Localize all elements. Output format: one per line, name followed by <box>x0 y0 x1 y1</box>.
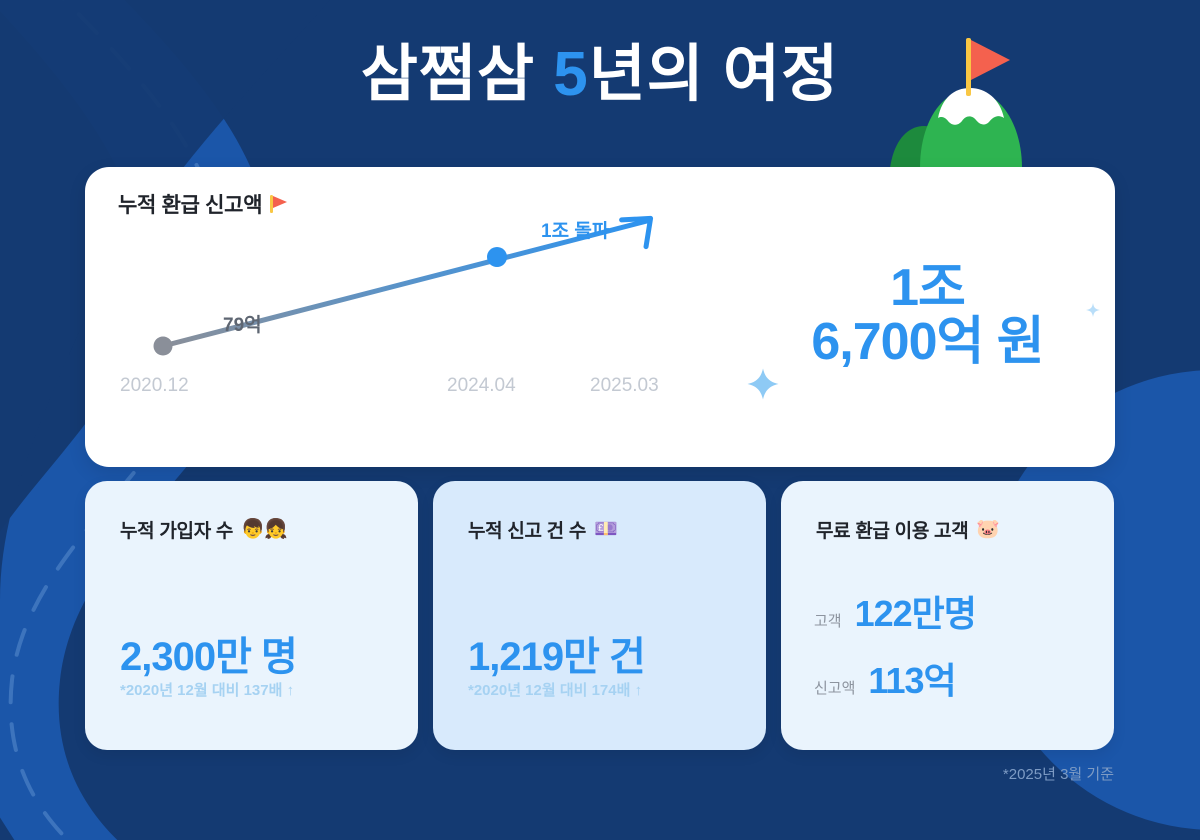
chart-point-label-2020: 79억 <box>223 310 262 337</box>
stat-card-subscribers-note: *2020년 12월 대비 137배 ↑ <box>120 679 294 700</box>
mountain-flag-icon <box>890 18 1070 168</box>
red-flag-icon <box>270 194 288 214</box>
chart-plot: 79억 1조 돌파 2020.12 2024.04 2025.03 <box>85 215 705 465</box>
chart-tick-2024: 2024.04 <box>447 375 516 397</box>
chart-tick-2025: 2025.03 <box>590 375 659 397</box>
chart-point-2020[interactable] <box>154 337 173 356</box>
footnote: *2025년 3월 기준 <box>1003 763 1114 784</box>
total-amount-line1: 1조 <box>890 261 965 315</box>
won-banknote-icon: 💷 <box>594 520 617 539</box>
stat-card-subscribers: 누적 가입자 수 👦👧 2,300만 명 *2020년 12월 대비 137배 … <box>85 481 418 750</box>
stat-card-subscribers-value: 2,300만 명 <box>120 624 297 682</box>
stat-card-free-refund: 무료 환급 이용 고객 🐷 고객 122만명 신고액 113억 <box>781 481 1114 750</box>
chart-point-2024[interactable] <box>487 247 507 267</box>
stat-row-amount: 신고액 113억 <box>814 652 956 704</box>
sparkle-blue-small-icon <box>1085 302 1101 318</box>
stat-card-free-refund-title: 무료 환급 이용 고객 🐷 <box>816 516 1000 543</box>
stat-title-text: 누적 신고 건 수 <box>468 516 586 543</box>
sparkle-blue-icon <box>746 367 780 401</box>
total-amount-line2: 6,700억 원 <box>811 315 1043 369</box>
stat-card-subscribers-title: 누적 가입자 수 👦👧 <box>120 516 288 543</box>
stat-row-label: 고객 <box>814 610 842 631</box>
stat-title-text: 누적 가입자 수 <box>120 516 233 543</box>
flag-pole <box>966 38 971 96</box>
title-prefix: 삼쩜삼 <box>361 40 553 109</box>
stat-row-value: 113억 <box>868 652 955 704</box>
stat-row-value: 122만명 <box>855 585 976 637</box>
chart-line-svg <box>85 215 705 465</box>
stat-row-customers: 고객 122만명 <box>814 585 976 637</box>
chart-point-label-2024: 1조 돌파 <box>541 216 609 243</box>
stat-card-filings-note: *2020년 12월 대비 174배 ↑ <box>468 679 642 700</box>
chart-tick-2020: 2020.12 <box>120 375 189 397</box>
stat-row-label: 신고액 <box>814 677 855 698</box>
chart-card: 누적 환급 신고액 79억 1조 돌파 2020.12 <box>85 167 1115 467</box>
title-suffix: 년의 여정 <box>589 40 839 109</box>
piggy-bank-icon: 🐷 <box>976 520 999 539</box>
stat-card-filings-value: 1,219만 건 <box>468 624 645 682</box>
title-accent-number: 5 <box>553 40 588 109</box>
stat-card-filings-title: 누적 신고 건 수 💷 <box>468 516 617 543</box>
stat-card-filings: 누적 신고 건 수 💷 1,219만 건 *2020년 12월 대비 174배 … <box>433 481 766 750</box>
header: 삼쩜삼 5년의 여정 <box>0 0 1200 160</box>
boy-girl-faces-icon: 👦👧 <box>241 520 288 539</box>
flag-shape <box>971 40 1010 80</box>
stat-title-text: 무료 환급 이용 고객 <box>816 516 968 543</box>
total-refund-amount: 1조 6,700억 원 <box>740 215 1115 415</box>
